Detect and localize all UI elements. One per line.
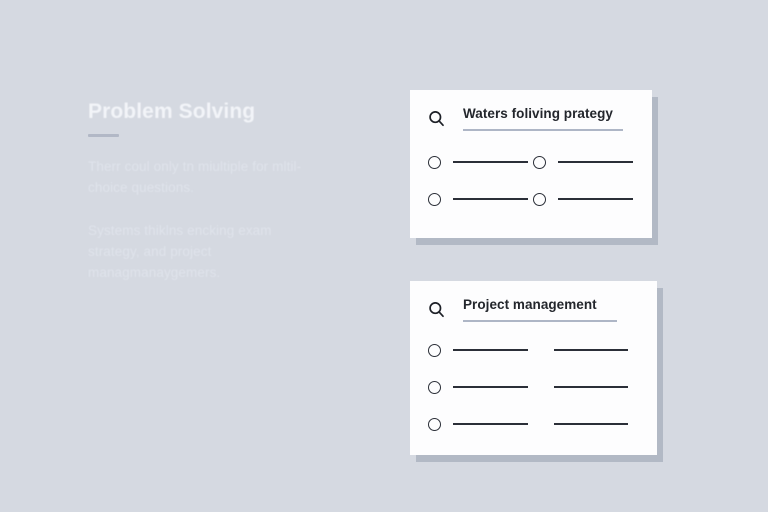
answer-placeholder-line-secondary — [554, 386, 628, 388]
option-row[interactable] — [428, 418, 643, 431]
search-icon[interactable] — [428, 110, 445, 127]
card-header: Waters foliving prategy — [410, 90, 652, 131]
answer-placeholder-line — [453, 198, 528, 200]
intro-paragraph-1: Therr coul only tn miultiple for mltil-c… — [88, 156, 318, 198]
option-item[interactable] — [428, 156, 533, 169]
option-row[interactable] — [428, 381, 643, 394]
card-title: Waters foliving prategy — [463, 106, 652, 122]
option-row — [428, 156, 638, 169]
card-header: Project management — [410, 281, 657, 322]
option-row — [428, 193, 638, 206]
intro-panel: Problem Solving Therr coul only tn miult… — [88, 100, 318, 283]
answer-placeholder-line — [453, 349, 528, 351]
intro-paragraph-2: Systems thiklns encking exam strategy, a… — [88, 220, 318, 283]
option-item[interactable] — [533, 156, 638, 169]
answer-placeholder-line — [453, 386, 528, 388]
radio-button[interactable] — [428, 344, 441, 357]
answer-placeholder-line — [558, 161, 633, 163]
radio-button[interactable] — [428, 418, 441, 431]
search-icon[interactable] — [428, 301, 445, 318]
question-card-2[interactable]: Project management — [410, 281, 657, 455]
answer-placeholder-line-secondary — [554, 423, 628, 425]
title-accent-rule — [88, 134, 119, 137]
card-title: Project management — [463, 297, 657, 313]
option-row[interactable] — [428, 344, 643, 357]
radio-button[interactable] — [533, 156, 546, 169]
option-item[interactable] — [428, 193, 533, 206]
card-title-wrap: Project management — [463, 297, 657, 322]
answer-placeholder-line — [558, 198, 633, 200]
card-title-wrap: Waters foliving prategy — [463, 106, 652, 131]
answer-placeholder-line-secondary — [554, 349, 628, 351]
question-card-1[interactable]: Waters foliving prategy — [410, 90, 652, 238]
radio-button[interactable] — [428, 381, 441, 394]
radio-button[interactable] — [428, 193, 441, 206]
card-title-rule — [463, 129, 623, 131]
card-title-rule — [463, 320, 617, 322]
option-item[interactable] — [533, 193, 638, 206]
radio-button[interactable] — [533, 193, 546, 206]
options-grid — [410, 156, 652, 206]
options-grid — [410, 344, 657, 431]
answer-placeholder-line — [453, 423, 528, 425]
page-title: Problem Solving — [88, 100, 318, 124]
radio-button[interactable] — [428, 156, 441, 169]
answer-placeholder-line — [453, 161, 528, 163]
